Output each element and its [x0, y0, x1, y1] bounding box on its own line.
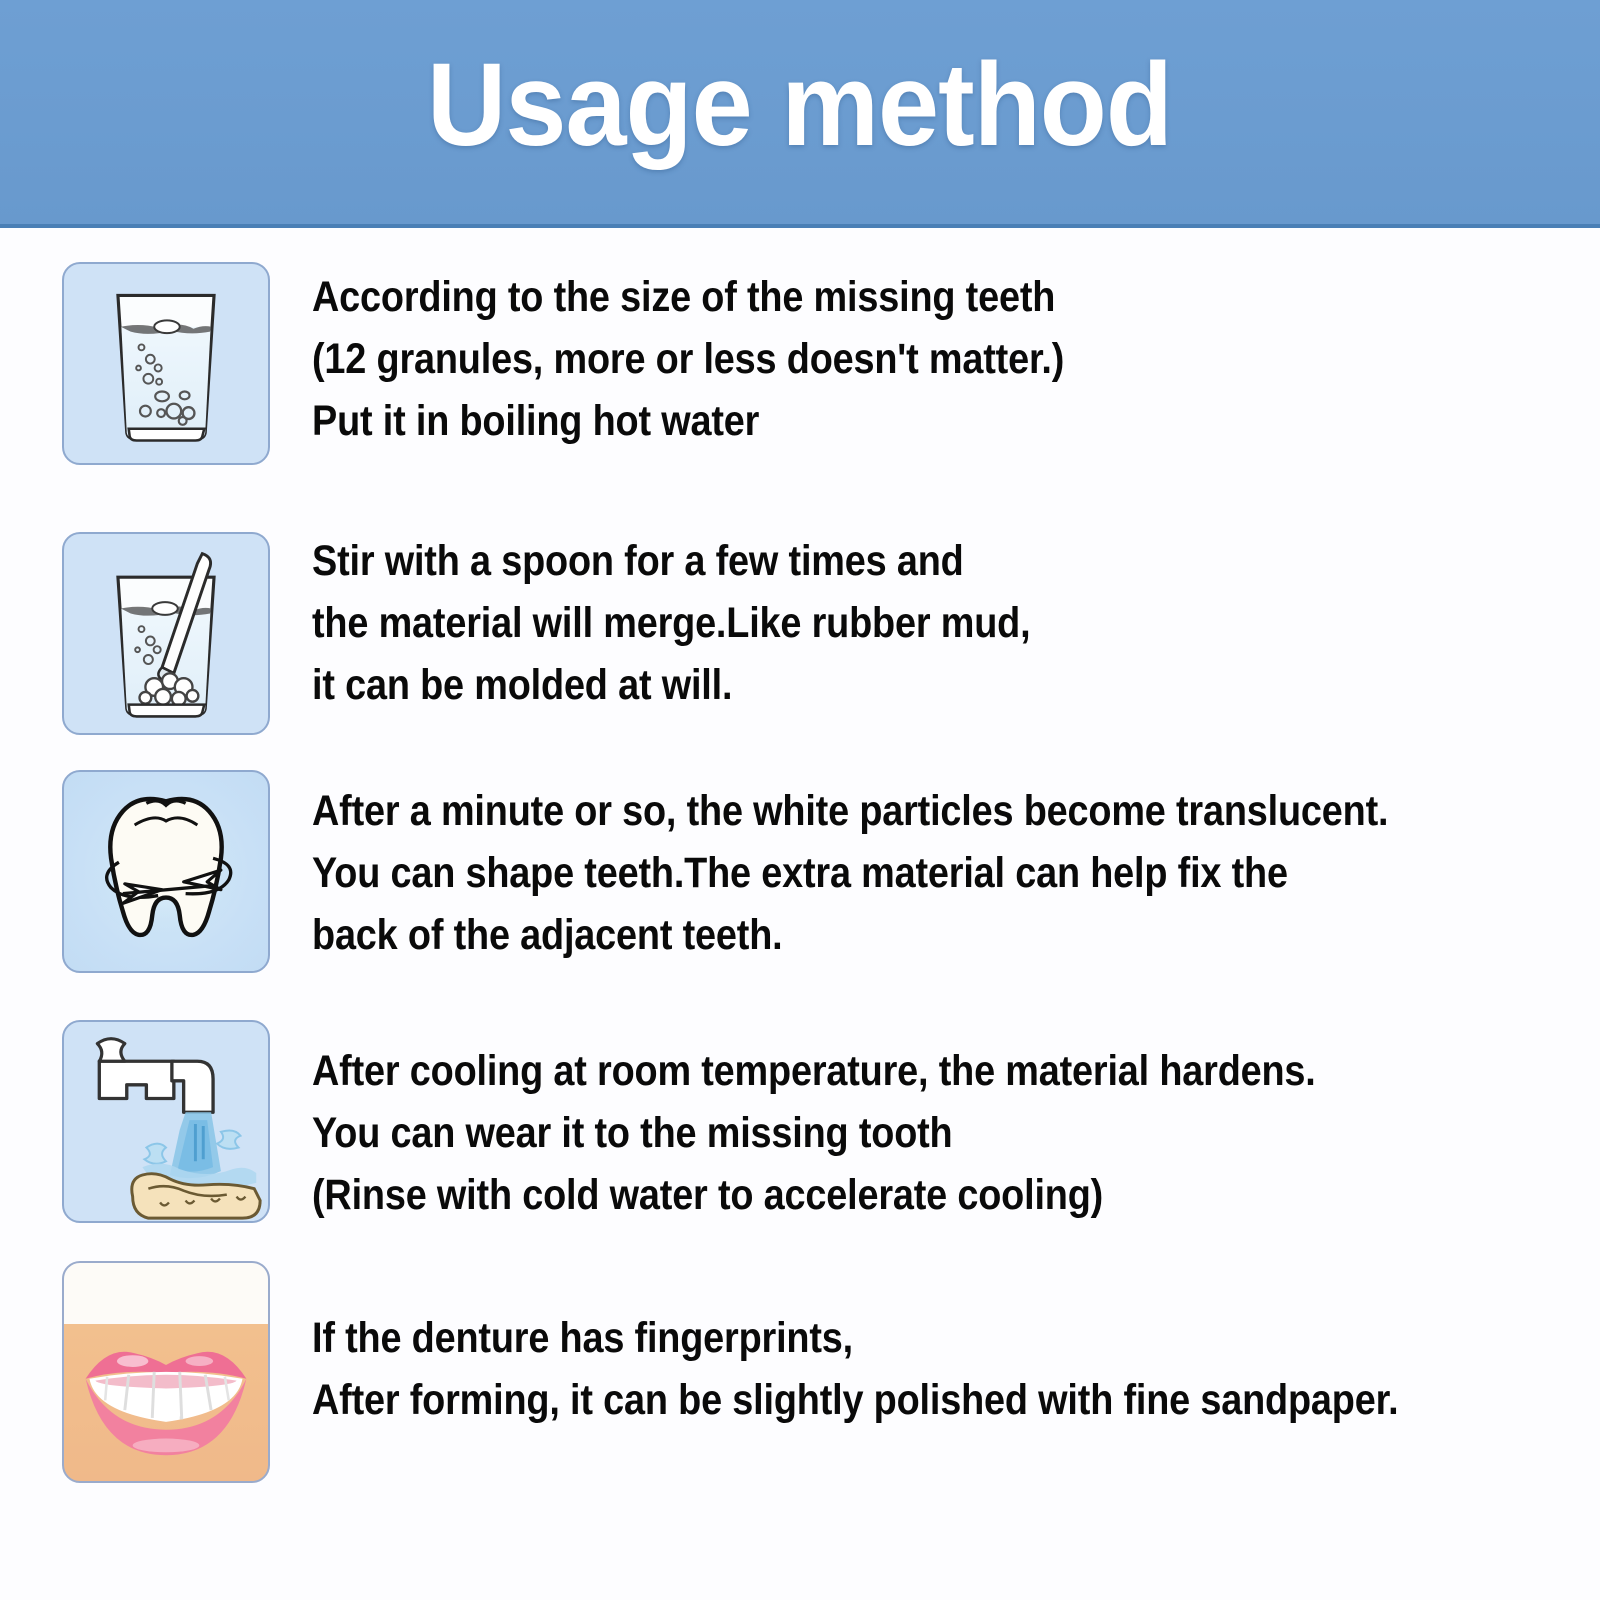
step-line: You can wear it to the missing tooth [312, 1102, 1316, 1164]
step-text: After a minute or so, the white particle… [312, 780, 1535, 966]
step-item: If the denture has fingerprints, After f… [0, 1251, 1600, 1501]
faucet-hands-icon [62, 1020, 270, 1223]
step-line: the material will merge.Like rubber mud, [312, 592, 1030, 654]
step-text: Stir with a spoon for a few times and th… [312, 530, 1128, 716]
step-item: According to the size of the missing tee… [0, 228, 1600, 490]
glass-with-spoon-icon [62, 532, 270, 735]
tooth-shaping-icon [62, 770, 270, 973]
step-line: Stir with a spoon for a few times and [312, 530, 1030, 592]
step-line: After a minute or so, the white particle… [312, 780, 1388, 842]
step-line: back of the adjacent teeth. [312, 904, 1388, 966]
smiling-mouth-icon [62, 1261, 270, 1483]
step-line: If the denture has fingerprints, [312, 1307, 1398, 1369]
mouth-glyph [64, 1263, 268, 1481]
step-line: After forming, it can be slightly polish… [312, 1369, 1398, 1431]
step-line: After cooling at room temperature, the m… [312, 1040, 1316, 1102]
step-line: You can shape teeth.The extra material c… [312, 842, 1388, 904]
page-header: Usage method [0, 0, 1600, 228]
step-item: Stir with a spoon for a few times and th… [0, 490, 1600, 746]
step-item: After cooling at room temperature, the m… [0, 996, 1600, 1251]
step-line: (Rinse with cold water to accelerate coo… [312, 1164, 1316, 1226]
step-line: According to the size of the missing tee… [312, 266, 1064, 328]
tooth-glyph [64, 772, 268, 971]
step-line: Put it in boiling hot water [312, 390, 1064, 452]
usage-method-infographic: Usage method [0, 0, 1600, 1600]
step-text: If the denture has fingerprints, After f… [312, 1307, 1547, 1431]
step-text: After cooling at room temperature, the m… [312, 1040, 1453, 1226]
glass-of-water-glyph [64, 264, 268, 463]
glass-of-water-icon [62, 262, 270, 465]
step-line: (12 granules, more or less doesn't matte… [312, 328, 1064, 390]
glass-with-spoon-glyph [64, 534, 268, 733]
faucet-hands-glyph [64, 1022, 268, 1221]
step-item: After a minute or so, the white particle… [0, 746, 1600, 996]
step-line: it can be molded at will. [312, 654, 1030, 716]
step-text: According to the size of the missing tee… [312, 266, 1167, 452]
page-title: Usage method [428, 46, 1173, 178]
